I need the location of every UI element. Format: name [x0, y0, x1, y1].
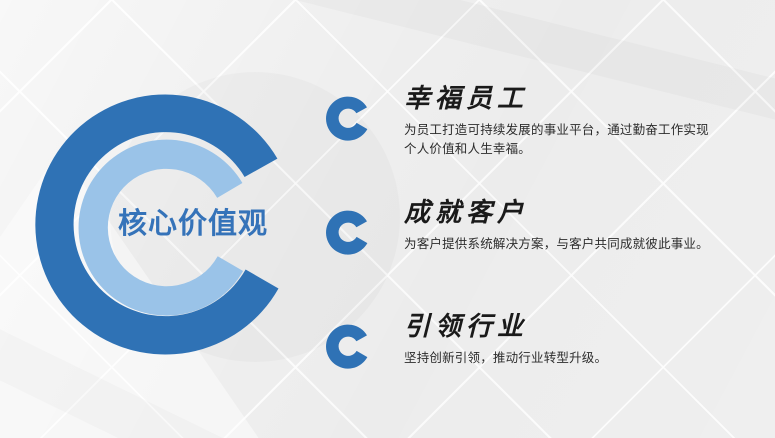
- value-body-1: 幸福员工 为员工打造可持续发展的事业平台，通过勤奋工作实现个人价值和人生幸福。: [404, 84, 766, 159]
- value-item-1: 幸福员工 为员工打造可持续发展的事业平台，通过勤奋工作实现个人价值和人生幸福。: [326, 84, 766, 180]
- slide-canvas: 核心价值观 幸福员工 为员工打造可持续发展的事业平台，通过勤奋工作实现个人价值和…: [0, 0, 775, 438]
- value-item-3: 引领行业 坚持创新引领，推动行业转型升级。: [326, 312, 766, 408]
- c-ring-icon: [326, 94, 374, 142]
- value-description: 为客户提供系统解决方案，与客户共同成就彼此事业。: [404, 235, 709, 254]
- value-description: 坚持创新引领，推动行业转型升级。: [404, 349, 709, 368]
- c-ring-icon: [326, 208, 374, 256]
- core-values-list: 幸福员工 为员工打造可持续发展的事业平台，通过勤奋工作实现个人价值和人生幸福。 …: [326, 84, 766, 408]
- emblem-title: 核心价值观: [98, 200, 288, 242]
- value-heading: 幸福员工: [404, 84, 766, 115]
- value-heading: 引领行业: [404, 312, 766, 343]
- c-ring-icon: [326, 322, 374, 370]
- value-item-2: 成就客户 为客户提供系统解决方案，与客户共同成就彼此事业。: [326, 198, 766, 294]
- value-body-3: 引领行业 坚持创新引领，推动行业转型升级。: [404, 312, 766, 368]
- core-value-emblem: 核心价值观: [14, 72, 314, 372]
- value-body-2: 成就客户 为客户提供系统解决方案，与客户共同成就彼此事业。: [404, 198, 766, 254]
- value-heading: 成就客户: [404, 198, 766, 229]
- value-description: 为员工打造可持续发展的事业平台，通过勤奋工作实现个人价值和人生幸福。: [404, 121, 709, 160]
